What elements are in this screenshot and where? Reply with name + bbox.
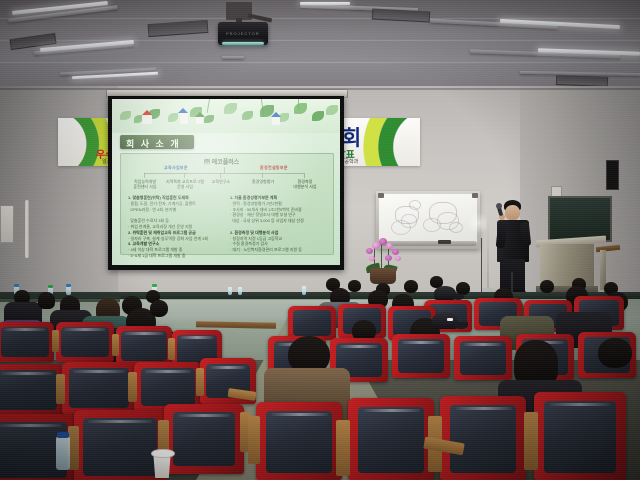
projector-shadow-rail (222, 56, 244, 59)
orchid-bloom (385, 255, 392, 261)
paper-cup-rim (151, 449, 175, 458)
auditorium-photo: PROJECTOR 200 우수취업 일시 2009. 수회 개선발표 대학교 … (0, 0, 640, 480)
slide-bullets-right: 1. 자율 환경성평가부문 계획 · 면적 : 환경영향평가 2만2천평 · 조… (230, 195, 304, 253)
audience-head (598, 338, 632, 368)
chart-node: 환경측정대행분석 사업 (286, 179, 324, 189)
cap-logo (447, 318, 453, 321)
seat[interactable] (288, 306, 336, 340)
projection-screen[interactable]: 회 사 소 개 ㈜ 에코플러스 교육사업부문 환경컨설팅부문 직업능력개발훈련센… (112, 99, 340, 265)
seat[interactable] (56, 322, 114, 362)
armrest (52, 330, 59, 352)
projector-brand-label: PROJECTOR (226, 31, 260, 36)
water-bottle (228, 287, 232, 295)
whiteboard-surface (379, 194, 477, 242)
armrest (524, 412, 538, 470)
seat[interactable] (0, 364, 64, 416)
audience-head (38, 292, 55, 309)
seat[interactable] (392, 334, 450, 378)
chart-category-right: 환경컨설팅부문 (260, 165, 288, 171)
water-bottle (66, 286, 71, 295)
armrest (128, 372, 137, 402)
chart-category-left: 교육사업부문 (164, 165, 188, 171)
seat[interactable] (256, 402, 342, 480)
armrest (248, 416, 260, 464)
armrest (168, 338, 175, 360)
audience-cap-brim (454, 322, 468, 329)
slide-title: 회 사 소 개 (126, 137, 181, 150)
audience-head (150, 300, 168, 317)
chart-node: 직업능력개발훈련센터 사업 (126, 179, 164, 189)
slide-brand: ㈜ 에코플러스 (204, 157, 239, 166)
audience-head (404, 280, 418, 293)
armrest (56, 374, 65, 404)
microphone-head (496, 203, 502, 209)
wall-speaker-box (606, 160, 619, 190)
water-bottle (238, 287, 242, 295)
audience-head (348, 280, 361, 292)
seat[interactable] (440, 396, 526, 480)
wall-notice (0, 205, 14, 243)
chart-node: 교육연구소 (206, 179, 236, 184)
seat[interactable] (62, 362, 136, 414)
seat[interactable] (348, 398, 434, 480)
seat[interactable] (116, 326, 172, 366)
armrest (196, 368, 204, 396)
seat[interactable] (0, 322, 54, 362)
audience-head (540, 280, 554, 293)
armrest (336, 420, 350, 476)
microphone-cable (481, 238, 482, 294)
seat[interactable] (454, 336, 512, 380)
whiteboard (376, 191, 480, 249)
wall-pipe (25, 200, 29, 258)
water-bottle (56, 436, 70, 470)
whiteboard-tray (380, 241, 476, 246)
flower-pot (370, 268, 396, 284)
seat[interactable] (164, 404, 244, 474)
seat[interactable] (74, 410, 166, 480)
seat[interactable] (534, 392, 626, 480)
projector-lens (222, 42, 264, 45)
slide-bullets-left: 1. 맞춤형훈련(위탁) 직업훈련 도제화 · 용접, 도장, 전기·전자, 기… (128, 195, 208, 259)
whiteboard-eraser (438, 240, 451, 244)
ceiling-light (300, 2, 350, 5)
armrest (112, 334, 119, 356)
slide-header-band (112, 99, 340, 133)
water-bottle (302, 286, 306, 295)
mic-stand (487, 212, 489, 290)
chart-node: 지역특화 교육프로그램운영 사업 (166, 179, 204, 189)
chart-node: 환경영향평가 (244, 179, 282, 184)
